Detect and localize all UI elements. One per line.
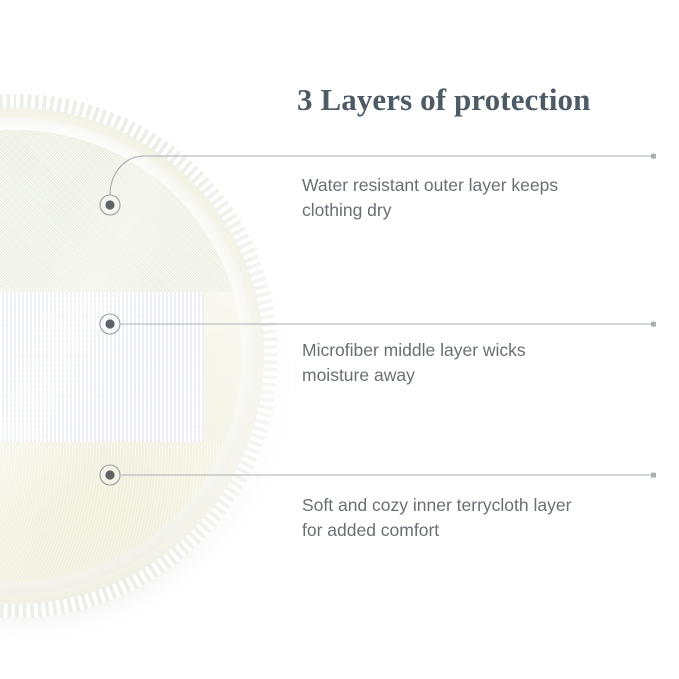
callout-text-1-line-1: Water resistant outer layer keeps — [302, 173, 658, 198]
layer-marker-middle[interactable] — [100, 314, 120, 334]
page-title: 3 Layers of protection — [297, 82, 667, 118]
infographic-canvas: 3 Layers of protection Water resistant o… — [0, 0, 679, 679]
callout-text-2-line-2: moisture away — [302, 363, 658, 388]
callout-text-3-line-2: for added comfort — [302, 518, 658, 543]
callout-text-1: Water resistant outer layer keeps clothi… — [302, 173, 658, 223]
callout-text-2-line-1: Microfiber middle layer wicks — [302, 338, 658, 363]
marker-dot-3 — [105, 470, 114, 479]
marker-dot-2 — [105, 319, 114, 328]
callout-line-3-endcap — [651, 473, 656, 478]
callout-line-2-endcap — [651, 322, 656, 327]
callout-text-3-line-1: Soft and cozy inner terrycloth layer — [302, 493, 658, 518]
layer-marker-inner[interactable] — [100, 465, 120, 485]
callout-text-2: Microfiber middle layer wicks moisture a… — [302, 338, 658, 388]
callout-text-1-line-2: clothing dry — [302, 198, 658, 223]
layer-marker-outer[interactable] — [100, 195, 120, 215]
marker-dot-1 — [105, 200, 114, 209]
callout-line-1-endcap — [651, 154, 656, 159]
callout-text-3: Soft and cozy inner terrycloth layer for… — [302, 493, 658, 543]
